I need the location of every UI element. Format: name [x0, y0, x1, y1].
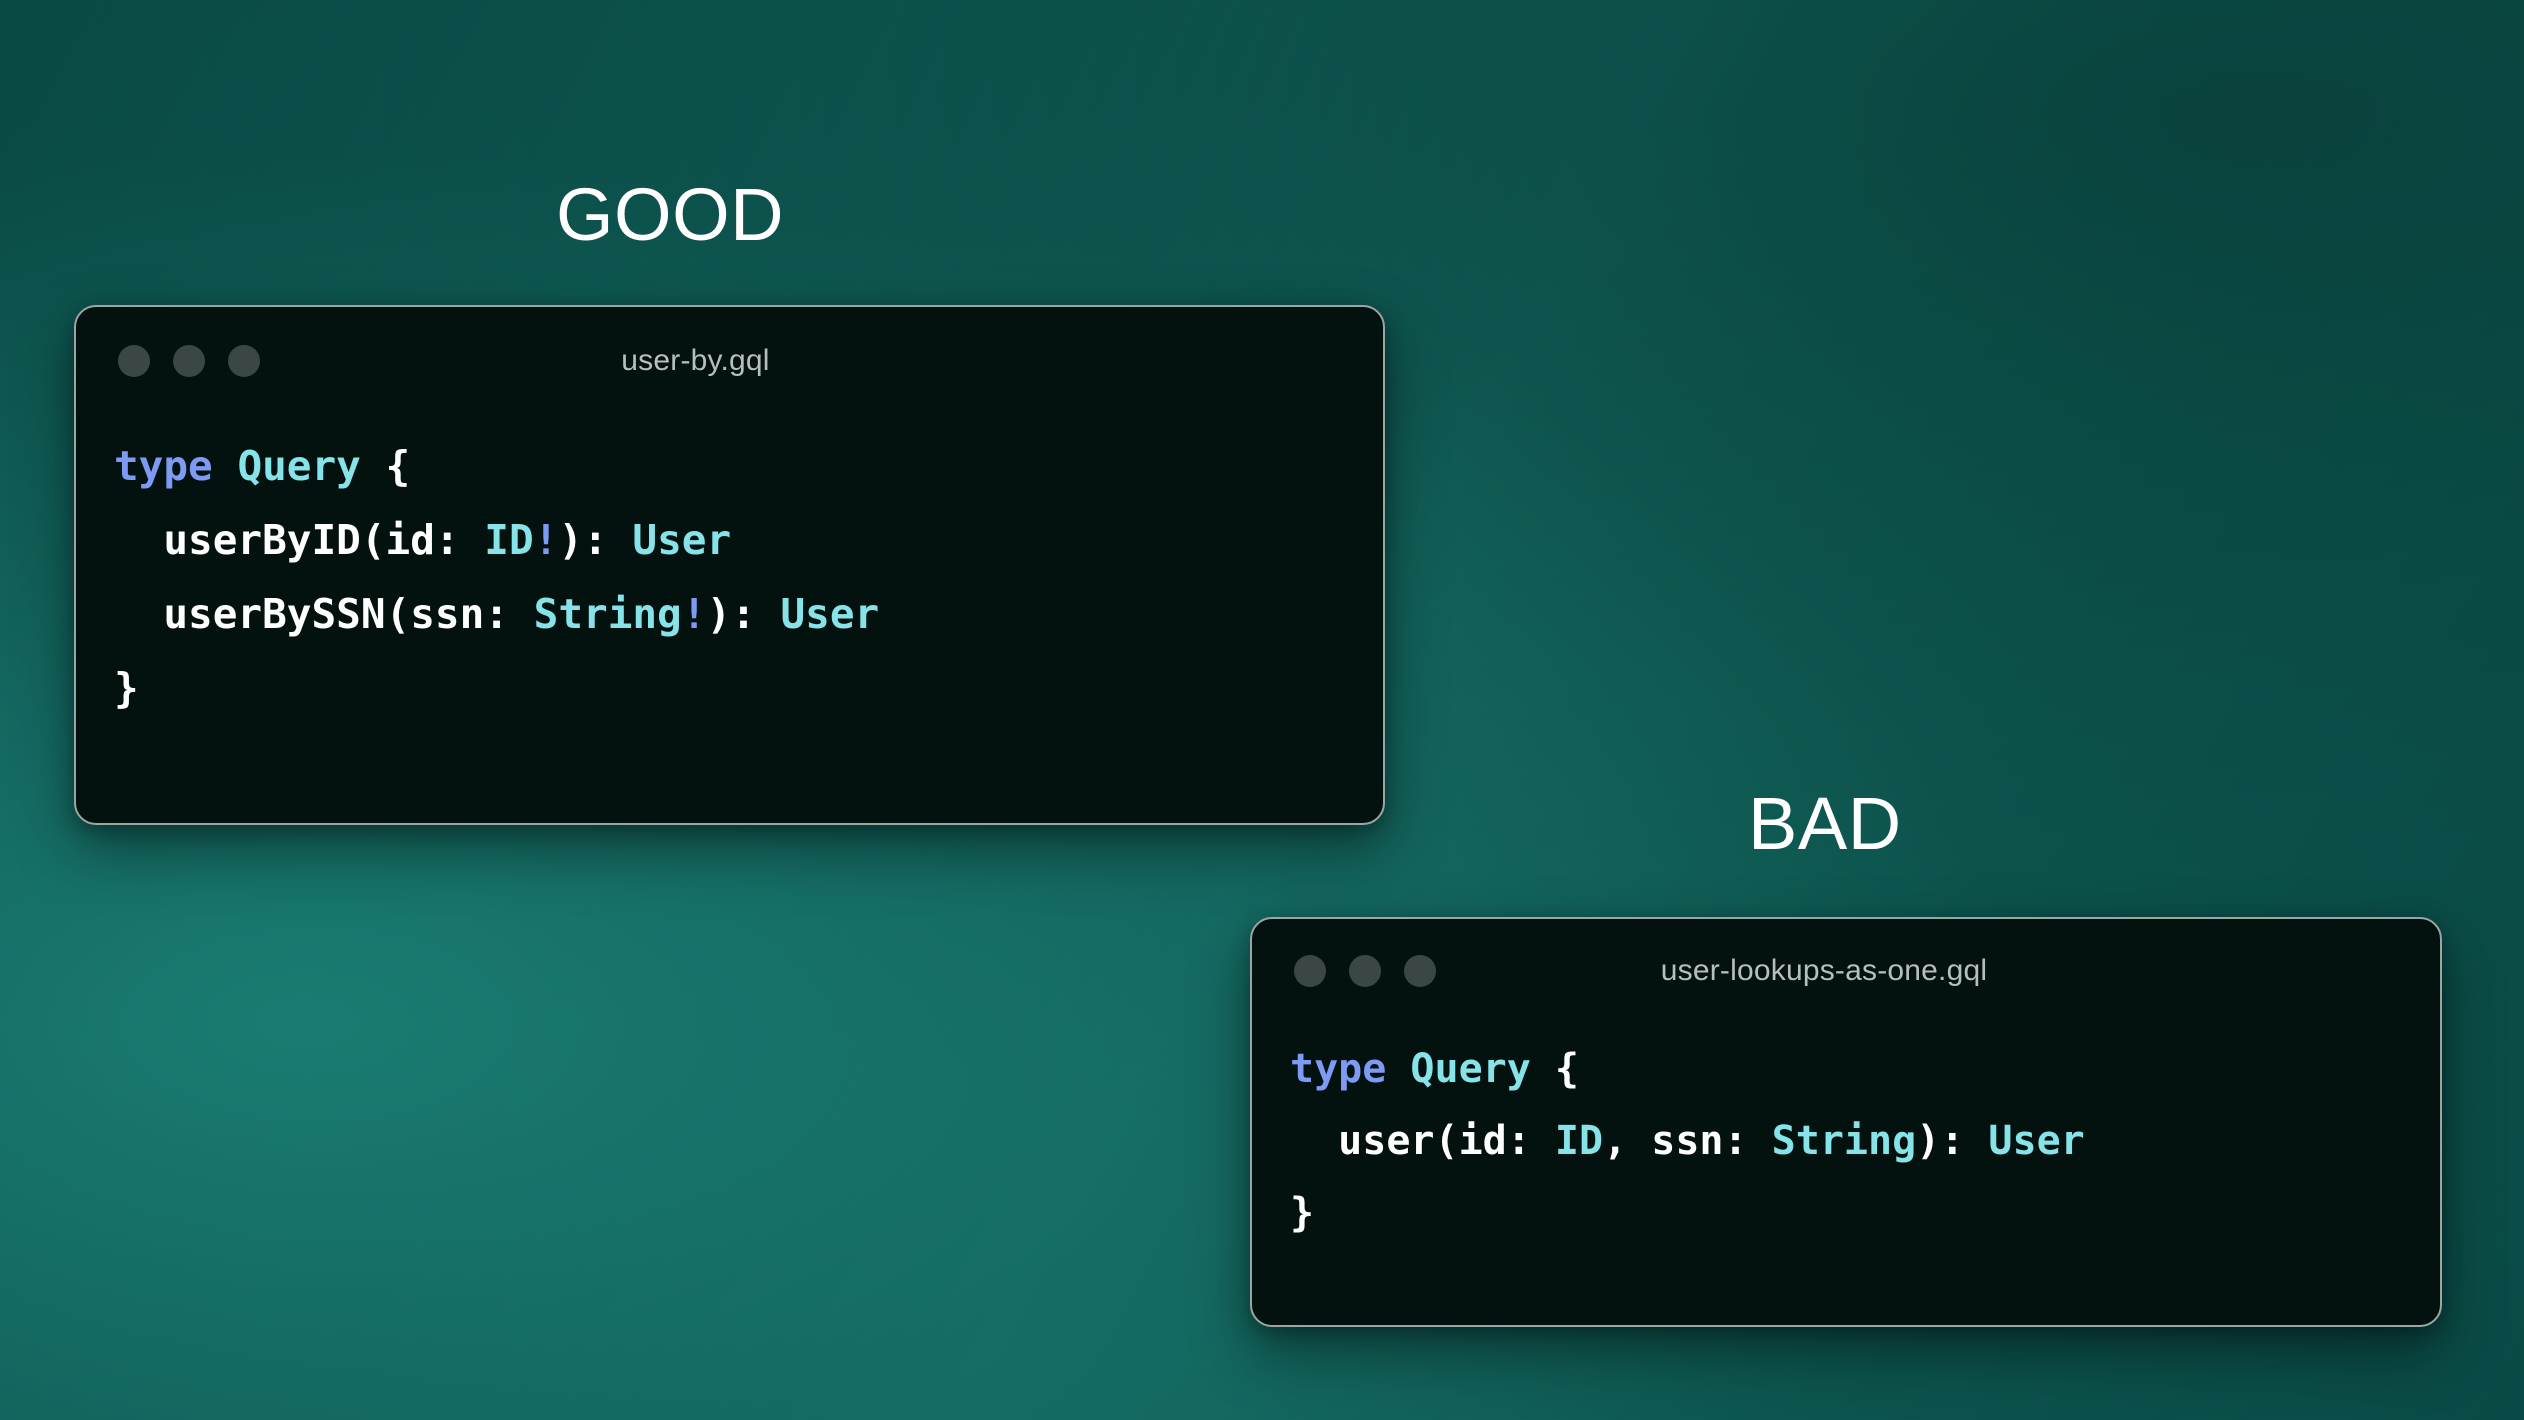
comparison-illustration: GOOD user-by.gql type Query { userByID(i… — [0, 0, 2524, 1420]
code-token: ): — [706, 590, 780, 638]
code-token: userByID(id: — [114, 516, 484, 564]
code-token: user(id: — [1290, 1118, 1555, 1164]
code-token: ): — [1916, 1118, 1988, 1164]
code-token: , ssn: — [1603, 1118, 1772, 1164]
code-token: Query — [1410, 1046, 1530, 1092]
code-token: userBySSN(ssn: — [114, 590, 534, 638]
code-token: String — [1772, 1118, 1917, 1164]
code-token: } — [114, 664, 139, 712]
code-token: type — [114, 442, 213, 490]
code-token: User — [1988, 1118, 2084, 1164]
code-token: } — [1290, 1190, 1314, 1236]
code-token: String — [534, 590, 682, 638]
code-token — [213, 442, 238, 490]
good-example-label: GOOD — [556, 178, 784, 252]
code-block: type Query { userByID(id: ID!): User use… — [76, 415, 1383, 725]
code-block: type Query { user(id: ID, ssn: String): … — [1252, 1023, 2440, 1249]
code-token: ): — [558, 516, 632, 564]
window-filename: user-by.gql — [74, 344, 1349, 378]
code-token: ! — [682, 590, 707, 638]
window-titlebar: user-by.gql — [76, 307, 1383, 415]
code-token: { — [1531, 1046, 1579, 1092]
code-token: ID — [1555, 1118, 1603, 1164]
code-window-bad: user-lookups-as-one.gql type Query { use… — [1250, 917, 2442, 1327]
code-token: User — [781, 590, 880, 638]
code-token: { — [361, 442, 410, 490]
window-filename: user-lookups-as-one.gql — [1250, 954, 2418, 988]
bad-example-label: BAD — [1748, 787, 1902, 861]
window-titlebar: user-lookups-as-one.gql — [1252, 919, 2440, 1023]
code-token: Query — [237, 442, 360, 490]
code-token: type — [1290, 1046, 1386, 1092]
code-token — [1386, 1046, 1410, 1092]
code-token: ID — [484, 516, 533, 564]
code-token: ! — [534, 516, 559, 564]
code-window-good: user-by.gql type Query { userByID(id: ID… — [74, 305, 1385, 825]
code-token: User — [632, 516, 731, 564]
